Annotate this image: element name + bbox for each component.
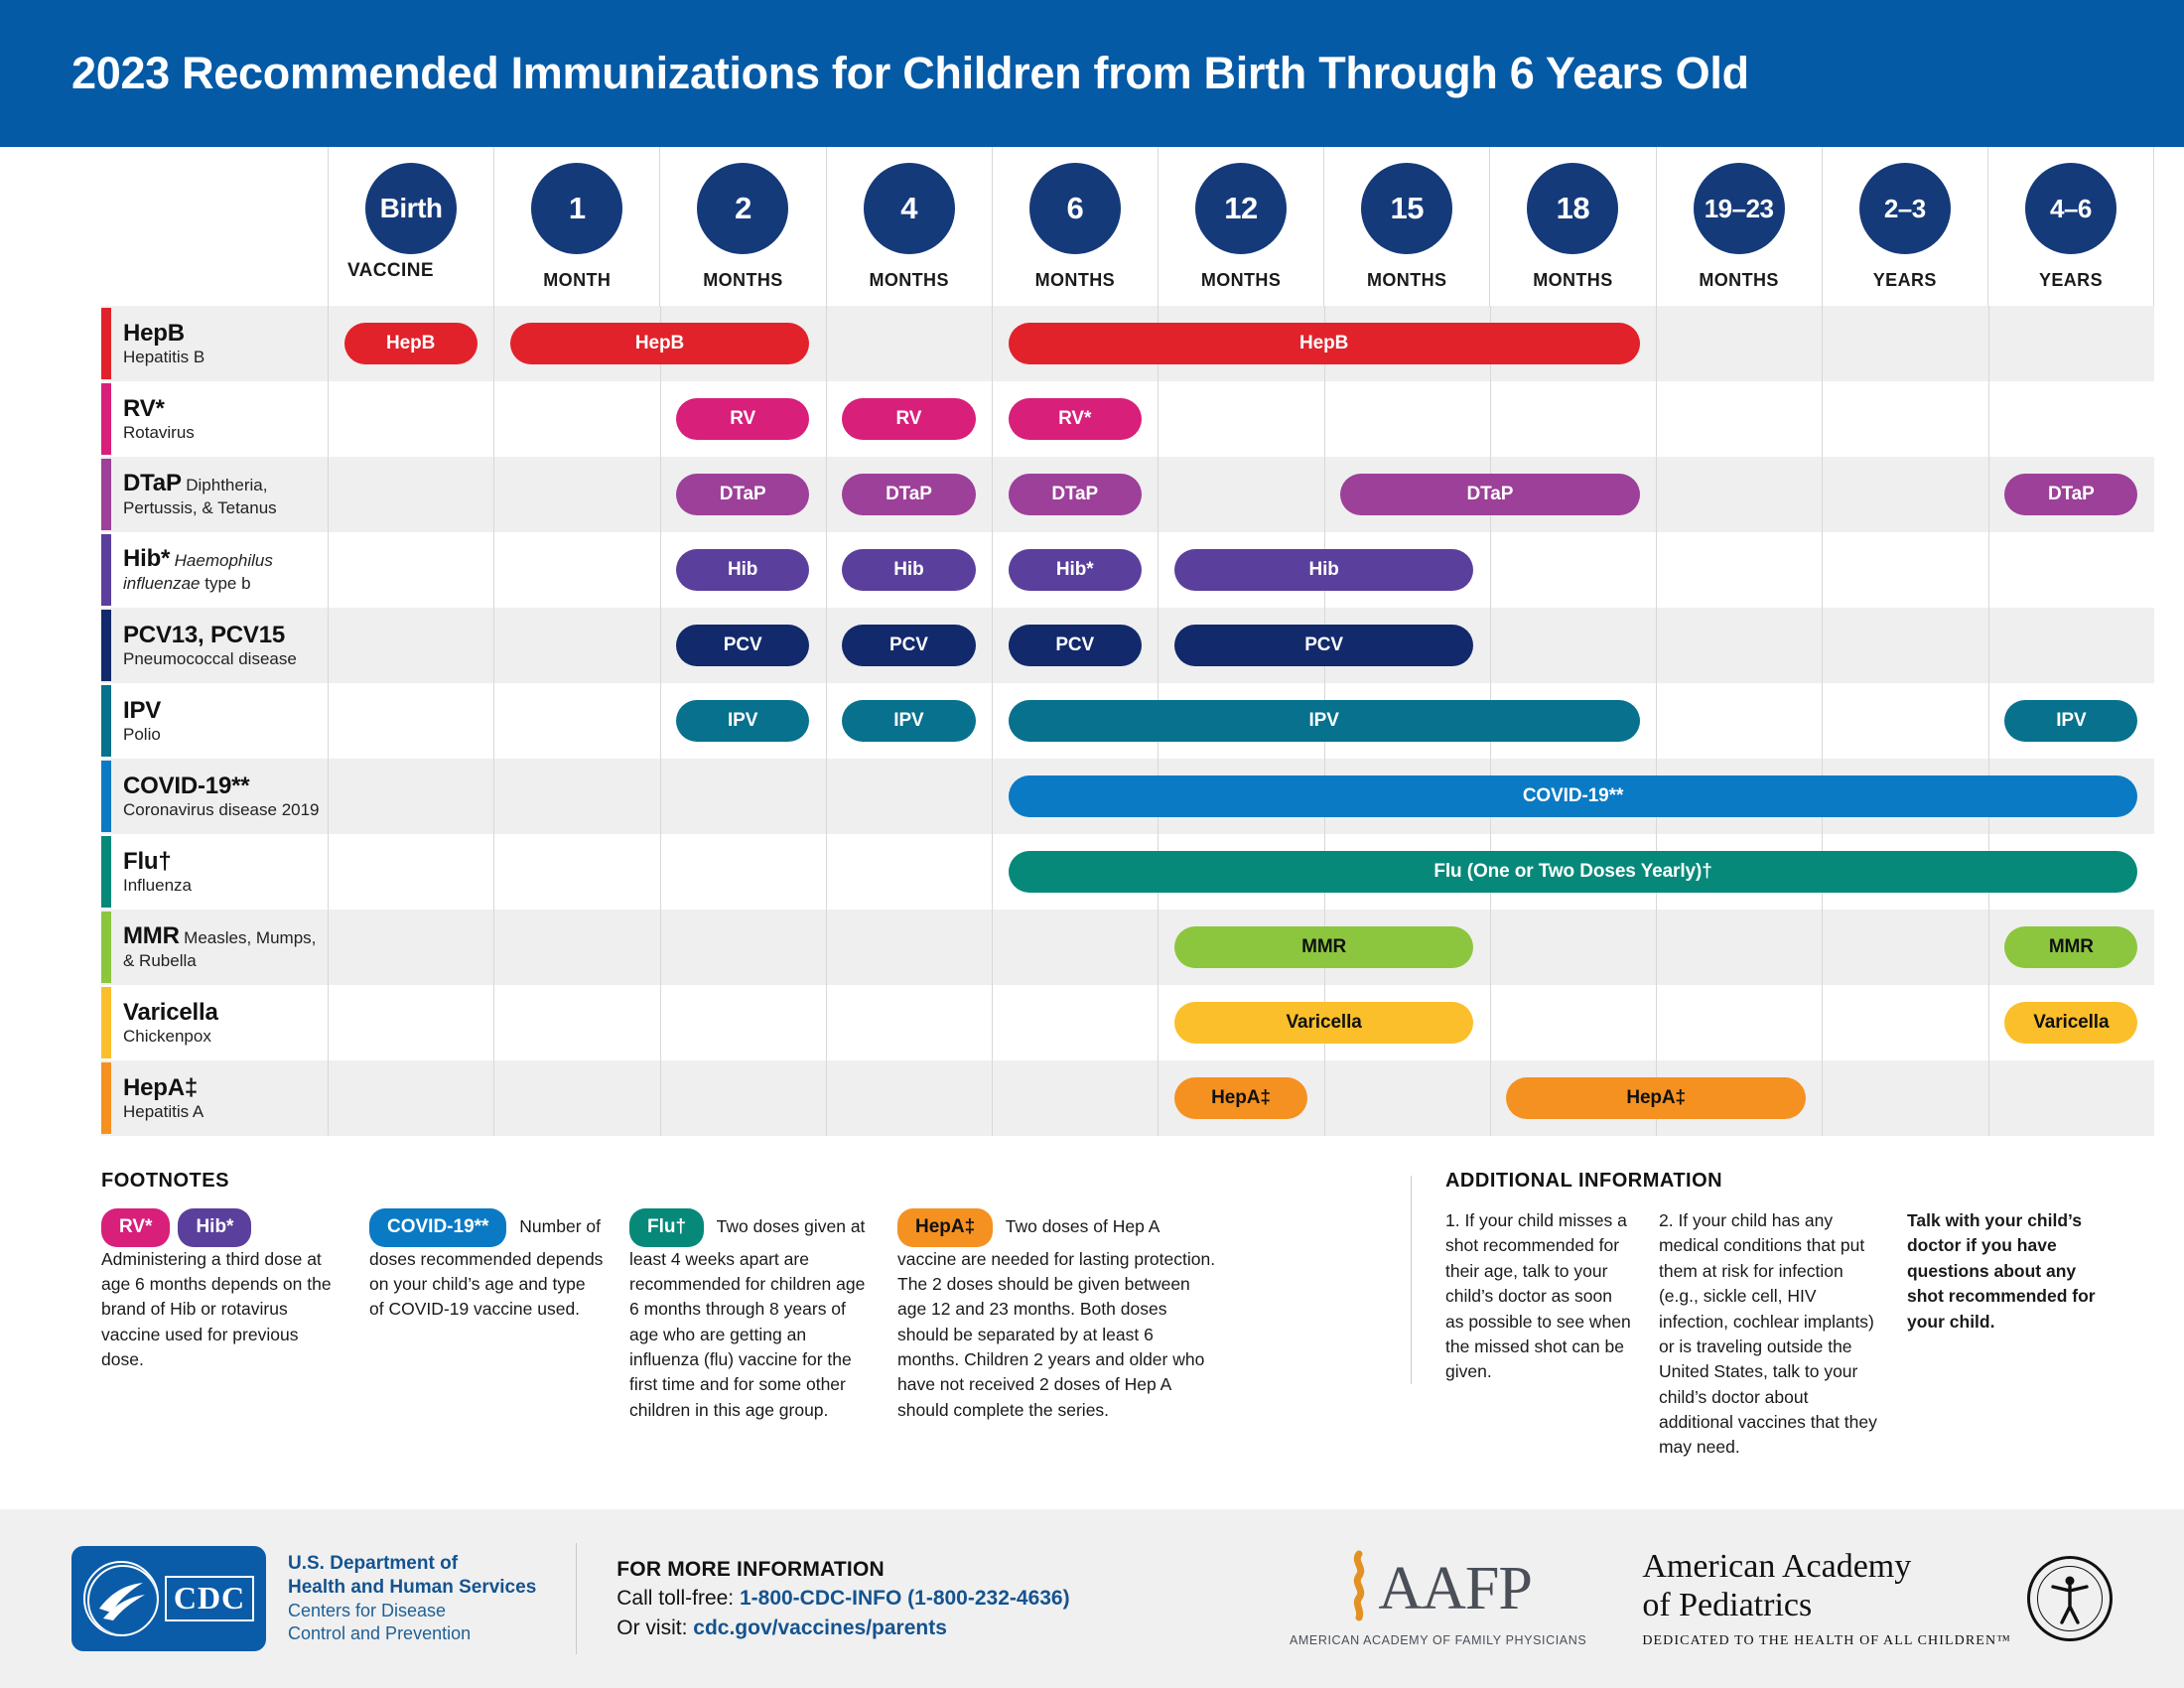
dose-bar[interactable]: Flu (One or Two Doses Yearly)† bbox=[1009, 851, 2138, 893]
page-footer: CDC U.S. Department of Health and Human … bbox=[0, 1509, 2184, 1688]
schedule-cell bbox=[328, 608, 493, 683]
cdc-wordmark: CDC bbox=[165, 1576, 254, 1621]
schedule-cell bbox=[328, 683, 493, 759]
age-circle: 1 bbox=[531, 163, 622, 254]
more-info-title: FOR MORE INFORMATION bbox=[616, 1555, 1069, 1584]
dose-bar[interactable]: Hib bbox=[676, 549, 809, 591]
footnote-text: Flu† Two doses given at least 4 weeks ap… bbox=[629, 1208, 872, 1423]
additional-info-title: ADDITIONAL INFORMATION bbox=[1445, 1170, 2154, 1193]
dose-bar[interactable]: MMR bbox=[1174, 926, 1473, 968]
age-header-row: VACCINE Birth1MONTH2MONTHS4MONTHS6MONTHS… bbox=[328, 147, 2154, 306]
age-column-4-6: 4–6YEARS bbox=[1987, 147, 2154, 306]
schedule-cell bbox=[493, 1060, 659, 1136]
schedule-cell bbox=[1324, 381, 1490, 457]
schedule-cell bbox=[328, 532, 493, 608]
age-unit-label: MONTHS bbox=[1699, 270, 1778, 291]
schedule-cell bbox=[1656, 910, 1822, 985]
age-unit-label: MONTHS bbox=[1367, 270, 1446, 291]
aafp-logo: AAFP AMERICAN ACADEMY OF FAMILY PHYSICIA… bbox=[1290, 1550, 1586, 1647]
dose-bar[interactable]: DTaP bbox=[676, 474, 809, 515]
schedule-track: PCVPCVPCVPCV bbox=[328, 608, 2154, 683]
schedule-cell bbox=[1822, 381, 1987, 457]
vaccine-abbrev: Hib* bbox=[123, 545, 170, 572]
age-unit-label: MONTHS bbox=[1533, 270, 1612, 291]
schedule-cell bbox=[992, 910, 1158, 985]
age-unit-label: MONTHS bbox=[869, 270, 948, 291]
additional-info-text: 2. If your child has any medical conditi… bbox=[1659, 1208, 1883, 1461]
age-circle: 2 bbox=[697, 163, 788, 254]
schedule-cell bbox=[660, 834, 826, 910]
schedule-cell bbox=[1656, 306, 1822, 381]
footnote-pill: COVID-19** bbox=[369, 1208, 506, 1247]
dose-bar[interactable]: PCV bbox=[676, 625, 809, 666]
dose-bar[interactable]: HepA‡ bbox=[1174, 1077, 1307, 1119]
age-column-4: 4MONTHS bbox=[826, 147, 992, 306]
footnotes-block: FOOTNOTES RV*Hib* Administering a third … bbox=[101, 1170, 1401, 1461]
additional-info-item: Talk with your child’s doctor if you hav… bbox=[1907, 1208, 2120, 1461]
aap-seal-icon bbox=[2027, 1556, 2113, 1641]
age-column-1: 1MONTH bbox=[493, 147, 659, 306]
vaccine-row: PCV13, PCV15Pneumococcal diseasePCVPCVPC… bbox=[101, 608, 2154, 683]
partner-logos: AAFP AMERICAN ACADEMY OF FAMILY PHYSICIA… bbox=[1290, 1548, 2113, 1648]
schedule-cell bbox=[660, 759, 826, 834]
notes-divider bbox=[1411, 1176, 1412, 1384]
age-column-2-3: 2–3YEARS bbox=[1822, 147, 1987, 306]
vaccine-color-stripe bbox=[101, 685, 111, 757]
vaccine-abbrev: COVID-19** bbox=[123, 773, 320, 800]
schedule-rows: HepBHepatitis BHepBHepBHepBRV*RotavirusR… bbox=[101, 306, 2154, 1136]
vaccine-full-name: Hepatitis A bbox=[123, 1102, 204, 1122]
vaccine-abbrev: HepB bbox=[123, 320, 205, 348]
vaccine-label-cell: HepA‡Hepatitis A bbox=[101, 1060, 328, 1136]
more-information-block: FOR MORE INFORMATION Call toll-free: 1-8… bbox=[616, 1555, 1069, 1642]
additional-info-text: Talk with your child’s doctor if you hav… bbox=[1907, 1208, 2097, 1335]
footnote-item: COVID-19** Number of doses recommended d… bbox=[369, 1208, 629, 1423]
vaccine-color-stripe bbox=[101, 1062, 111, 1134]
dose-bar[interactable]: MMR bbox=[2004, 926, 2137, 968]
age-column-18: 18MONTHS bbox=[1489, 147, 1655, 306]
age-circle: 12 bbox=[1195, 163, 1287, 254]
dose-bar[interactable]: PCV bbox=[1174, 625, 1473, 666]
vaccine-color-stripe bbox=[101, 987, 111, 1058]
hhs-agency-text: U.S. Department of Health and Human Serv… bbox=[288, 1552, 536, 1646]
vaccine-label-cell: Flu†Influenza bbox=[101, 834, 328, 910]
schedule-cell bbox=[1822, 1060, 1987, 1136]
footnote-text: RV*Hib* Administering a third dose at ag… bbox=[101, 1208, 343, 1372]
cdc-logo: CDC bbox=[71, 1546, 266, 1651]
dose-bar[interactable]: IPV bbox=[842, 700, 975, 742]
age-column-6: 6MONTHS bbox=[992, 147, 1158, 306]
age-column-birth: Birth bbox=[328, 147, 493, 306]
schedule-track: COVID-19** bbox=[328, 759, 2154, 834]
schedule-cell bbox=[1988, 381, 2154, 457]
age-unit-label: MONTHS bbox=[703, 270, 782, 291]
schedule-cell bbox=[493, 381, 659, 457]
schedule-cell bbox=[826, 306, 992, 381]
dose-bar[interactable]: COVID-19** bbox=[1009, 775, 2138, 817]
phone-number[interactable]: 1-800-CDC-INFO (1-800-232-4636) bbox=[740, 1587, 1070, 1610]
dose-bar[interactable]: IPV bbox=[2004, 700, 2137, 742]
schedule-cell bbox=[1656, 608, 1822, 683]
schedule-cell bbox=[493, 532, 659, 608]
schedule-cell bbox=[1988, 532, 2154, 608]
vaccine-row: Hib* Haemophilus influenzae type bHibHib… bbox=[101, 532, 2154, 608]
schedule-cell bbox=[493, 457, 659, 532]
dose-bar[interactable]: RV bbox=[842, 398, 975, 440]
schedule-cell bbox=[1988, 1060, 2154, 1136]
age-circle: 4 bbox=[864, 163, 955, 254]
vaccine-color-stripe bbox=[101, 459, 111, 530]
schedule-cell bbox=[1324, 1060, 1490, 1136]
schedule-track: Flu (One or Two Doses Yearly)† bbox=[328, 834, 2154, 910]
vaccine-row: VaricellaChickenpoxVaricellaVaricella bbox=[101, 985, 2154, 1060]
schedule-cell bbox=[1656, 985, 1822, 1060]
age-column-12: 12MONTHS bbox=[1158, 147, 1323, 306]
schedule-cell bbox=[1158, 457, 1323, 532]
aap-logo: American Academy of Pediatrics DEDICATED… bbox=[1642, 1548, 2113, 1648]
dose-bar[interactable]: PCV bbox=[842, 625, 975, 666]
schedule-cell bbox=[1822, 457, 1987, 532]
footnote-item: RV*Hib* Administering a third dose at ag… bbox=[101, 1208, 369, 1423]
dose-bar[interactable]: IPV bbox=[676, 700, 809, 742]
vaccine-label-cell: DTaP Diphtheria, Pertussis, & Tetanus bbox=[101, 457, 328, 532]
dose-bar[interactable]: Hib bbox=[1174, 549, 1473, 591]
hhs-line-1: U.S. Department of bbox=[288, 1552, 536, 1576]
aap-name-line-2: of Pediatrics bbox=[1642, 1587, 2011, 1624]
phone-prefix: Call toll-free: bbox=[616, 1587, 740, 1610]
schedule-cell bbox=[1988, 306, 2154, 381]
schedule-cell bbox=[826, 834, 992, 910]
dose-bar[interactable]: DTaP bbox=[2004, 474, 2137, 515]
aafp-subtitle: AMERICAN ACADEMY OF FAMILY PHYSICIANS bbox=[1290, 1633, 1586, 1647]
schedule-cell bbox=[328, 910, 493, 985]
schedule-cell bbox=[493, 985, 659, 1060]
dose-bar[interactable]: RV bbox=[676, 398, 809, 440]
age-circle: 18 bbox=[1527, 163, 1618, 254]
schedule-cell bbox=[328, 381, 493, 457]
dose-bar[interactable]: HepB bbox=[1009, 323, 1640, 364]
vaccine-row: RV*RotavirusRVRVRV* bbox=[101, 381, 2154, 457]
schedule-cell bbox=[328, 1060, 493, 1136]
aafp-wordmark: AAFP bbox=[1378, 1558, 1532, 1619]
hhs-seal-icon bbox=[83, 1561, 159, 1636]
vaccine-full-name: Rotavirus bbox=[123, 423, 195, 443]
dose-bar[interactable]: Hib* bbox=[1009, 549, 1142, 591]
dose-bar[interactable]: PCV bbox=[1009, 625, 1142, 666]
schedule-cell bbox=[493, 759, 659, 834]
schedule-cell bbox=[328, 985, 493, 1060]
schedule-cell bbox=[1822, 985, 1987, 1060]
additional-info-item: 2. If your child has any medical conditi… bbox=[1659, 1208, 1907, 1461]
vaccine-row: IPVPolioIPVIPVIPVIPV bbox=[101, 683, 2154, 759]
vaccine-row: HepA‡Hepatitis AHepA‡HepA‡ bbox=[101, 1060, 2154, 1136]
schedule-cell bbox=[660, 910, 826, 985]
age-column-15: 15MONTHS bbox=[1323, 147, 1489, 306]
footnote-pill: Flu† bbox=[629, 1208, 704, 1247]
age-circle: 15 bbox=[1361, 163, 1452, 254]
vaccine-abbrev: RV* bbox=[123, 395, 195, 423]
vaccine-full-name: Coronavirus disease 2019 bbox=[123, 800, 320, 820]
website-line: Or visit: cdc.gov/vaccines/parents bbox=[616, 1614, 1069, 1642]
schedule-cell bbox=[1158, 381, 1323, 457]
schedule-cell bbox=[826, 759, 992, 834]
schedule-cell bbox=[660, 985, 826, 1060]
vaccine-label-cell: VaricellaChickenpox bbox=[101, 985, 328, 1060]
vaccine-label-cell: PCV13, PCV15Pneumococcal disease bbox=[101, 608, 328, 683]
dose-bar[interactable]: Varicella bbox=[2004, 1002, 2137, 1044]
page-header-banner: 2023 Recommended Immunizations for Child… bbox=[0, 0, 2184, 147]
schedule-cell bbox=[493, 834, 659, 910]
additional-info-block: ADDITIONAL INFORMATION 1. If your child … bbox=[1445, 1170, 2154, 1461]
schedule-cell bbox=[1656, 532, 1822, 608]
vaccine-label-cell: HepBHepatitis B bbox=[101, 306, 328, 381]
schedule-cell bbox=[493, 683, 659, 759]
vaccine-label-cell: COVID-19**Coronavirus disease 2019 bbox=[101, 759, 328, 834]
schedule-cell bbox=[992, 985, 1158, 1060]
schedule-cell bbox=[1822, 608, 1987, 683]
schedule-cell bbox=[1822, 683, 1987, 759]
vaccine-abbrev: MMR bbox=[123, 922, 180, 949]
schedule-cell bbox=[1656, 457, 1822, 532]
schedule-cell bbox=[493, 910, 659, 985]
vaccine-row: COVID-19**Coronavirus disease 2019COVID-… bbox=[101, 759, 2154, 834]
footnote-pill: HepA‡ bbox=[897, 1208, 993, 1247]
vaccine-label-cell: MMR Measles, Mumps, & Rubella bbox=[101, 910, 328, 985]
footnote-pill: Hib* bbox=[178, 1208, 251, 1247]
additional-info-text: 1. If your child misses a shot recommend… bbox=[1445, 1208, 1635, 1385]
schedule-cell bbox=[1822, 910, 1987, 985]
website-url[interactable]: cdc.gov/vaccines/parents bbox=[693, 1617, 947, 1639]
dose-bar[interactable]: IPV bbox=[1009, 700, 1640, 742]
vaccine-abbrev: IPV bbox=[123, 697, 161, 725]
vaccine-full-name: Hepatitis B bbox=[123, 348, 205, 367]
aap-tagline: DEDICATED TO THE HEALTH OF ALL CHILDREN™ bbox=[1642, 1633, 2011, 1649]
schedule-cell bbox=[328, 759, 493, 834]
footnotes-title: FOOTNOTES bbox=[101, 1170, 1401, 1193]
dose-bar[interactable]: DTaP bbox=[842, 474, 975, 515]
schedule-cell bbox=[1490, 608, 1656, 683]
schedule-cell bbox=[1656, 683, 1822, 759]
vaccine-full-name: Pneumococcal disease bbox=[123, 649, 297, 669]
schedule-track: RVRVRV* bbox=[328, 381, 2154, 457]
schedule-cell bbox=[826, 1060, 992, 1136]
age-column-19-23: 19–23MONTHS bbox=[1656, 147, 1822, 306]
schedule-track: DTaPDTaPDTaPDTaPDTaP bbox=[328, 457, 2154, 532]
vaccine-row: DTaP Diphtheria, Pertussis, & TetanusDTa… bbox=[101, 457, 2154, 532]
schedule-track: HibHibHib*Hib bbox=[328, 532, 2154, 608]
schedule-cell bbox=[826, 985, 992, 1060]
age-unit-label: MONTHS bbox=[1035, 270, 1115, 291]
vaccine-row: MMR Measles, Mumps, & RubellaMMRMMR bbox=[101, 910, 2154, 985]
vaccine-color-stripe bbox=[101, 761, 111, 832]
footnote-columns: RV*Hib* Administering a third dose at ag… bbox=[101, 1208, 1401, 1423]
schedule-cell bbox=[1490, 532, 1656, 608]
age-circle: 19–23 bbox=[1694, 163, 1785, 254]
footnote-pill: RV* bbox=[101, 1208, 170, 1247]
schedule-track: IPVIPVIPVIPV bbox=[328, 683, 2154, 759]
schedule-cell bbox=[328, 457, 493, 532]
vaccine-label-cell: Hib* Haemophilus influenzae type b bbox=[101, 532, 328, 608]
vaccine-abbrev: HepA‡ bbox=[123, 1074, 204, 1102]
hhs-line-4: Control and Prevention bbox=[288, 1622, 536, 1645]
vaccine-label-cell: RV*Rotavirus bbox=[101, 381, 328, 457]
additional-info-item: 1. If your child misses a shot recommend… bbox=[1445, 1208, 1659, 1461]
dose-bar[interactable]: HepB bbox=[510, 323, 809, 364]
schedule-track: HepA‡HepA‡ bbox=[328, 1060, 2154, 1136]
footnote-text: HepA‡ Two doses of Hep A vaccine are nee… bbox=[897, 1208, 1219, 1423]
dose-bar[interactable]: DTaP bbox=[1340, 474, 1639, 515]
schedule-cell bbox=[328, 834, 493, 910]
schedule-cell bbox=[1490, 910, 1656, 985]
age-column-2: 2MONTHS bbox=[659, 147, 825, 306]
schedule-cell bbox=[1656, 381, 1822, 457]
vaccine-color-stripe bbox=[101, 383, 111, 455]
age-circle: Birth bbox=[365, 163, 457, 254]
schedule-cell bbox=[1822, 306, 1987, 381]
visit-prefix: Or visit: bbox=[616, 1617, 693, 1639]
vaccine-label-cell: IPVPolio bbox=[101, 683, 328, 759]
vaccine-abbrev: Varicella bbox=[123, 999, 218, 1027]
schedule-cell bbox=[826, 910, 992, 985]
hhs-line-2: Health and Human Services bbox=[288, 1576, 536, 1600]
dose-bar[interactable]: RV* bbox=[1009, 398, 1142, 440]
footnote-item: Flu† Two doses given at least 4 weeks ap… bbox=[629, 1208, 897, 1423]
schedule-track: HepBHepBHepB bbox=[328, 306, 2154, 381]
age-unit-label: MONTHS bbox=[1201, 270, 1281, 291]
schedule-cell bbox=[493, 608, 659, 683]
vaccine-color-stripe bbox=[101, 534, 111, 606]
vaccine-abbrev: DTaP bbox=[123, 470, 182, 496]
hhs-line-3: Centers for Disease bbox=[288, 1600, 536, 1622]
schedule-track: MMRMMR bbox=[328, 910, 2154, 985]
phone-line: Call toll-free: 1-800-CDC-INFO (1-800-23… bbox=[616, 1584, 1069, 1613]
vaccine-full-name: Chickenpox bbox=[123, 1027, 218, 1047]
schedule-cell bbox=[660, 1060, 826, 1136]
footnote-text: COVID-19** Number of doses recommended d… bbox=[369, 1208, 604, 1323]
schedule-cell bbox=[1988, 608, 2154, 683]
notes-section: FOOTNOTES RV*Hib* Administering a third … bbox=[30, 1170, 2154, 1461]
schedule-cell bbox=[1822, 532, 1987, 608]
caduceus-rod-icon bbox=[1344, 1550, 1374, 1626]
vaccine-row: Flu†InfluenzaFlu (One or Two Doses Yearl… bbox=[101, 834, 2154, 910]
dose-bar[interactable]: HepA‡ bbox=[1506, 1077, 1805, 1119]
age-unit-label: YEARS bbox=[1873, 270, 1937, 291]
schedule-track: VaricellaVaricella bbox=[328, 985, 2154, 1060]
dose-bar[interactable]: HepB bbox=[344, 323, 478, 364]
dose-bar[interactable]: Hib bbox=[842, 549, 975, 591]
vaccine-row: HepBHepatitis BHepBHepBHepB bbox=[101, 306, 2154, 381]
age-circle: 4–6 bbox=[2025, 163, 2116, 254]
schedule-cell bbox=[1490, 985, 1656, 1060]
vaccine-abbrev: Flu† bbox=[123, 848, 192, 876]
page-title: 2023 Recommended Immunizations for Child… bbox=[0, 48, 1749, 99]
dose-bar[interactable]: Varicella bbox=[1174, 1002, 1473, 1044]
footnote-item: HepA‡ Two doses of Hep A vaccine are nee… bbox=[897, 1208, 1245, 1423]
vaccine-full-name: Influenza bbox=[123, 876, 192, 896]
age-unit-label: YEARS bbox=[2039, 270, 2103, 291]
dose-bar[interactable]: DTaP bbox=[1009, 474, 1142, 515]
age-circle: 6 bbox=[1029, 163, 1121, 254]
vaccine-abbrev: PCV13, PCV15 bbox=[123, 622, 297, 649]
schedule-cell bbox=[1490, 381, 1656, 457]
vaccine-color-stripe bbox=[101, 836, 111, 908]
footer-divider bbox=[576, 1543, 577, 1654]
additional-info-columns: 1. If your child misses a shot recommend… bbox=[1445, 1208, 2154, 1461]
vaccine-color-stripe bbox=[101, 912, 111, 983]
aap-name-line-1: American Academy bbox=[1642, 1548, 2011, 1586]
age-circle: 2–3 bbox=[1859, 163, 1951, 254]
age-unit-label: MONTH bbox=[543, 270, 611, 291]
vaccine-color-stripe bbox=[101, 308, 111, 379]
schedule-cell bbox=[992, 1060, 1158, 1136]
vaccine-full-name: Polio bbox=[123, 725, 161, 745]
vaccine-color-stripe bbox=[101, 610, 111, 681]
immunization-schedule: VACCINE Birth1MONTH2MONTHS4MONTHS6MONTHS… bbox=[30, 147, 2154, 1136]
